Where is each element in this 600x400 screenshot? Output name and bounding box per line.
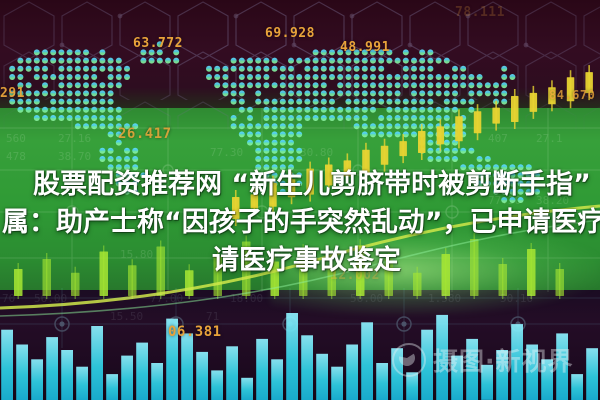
aperture-icon xyxy=(392,343,426,377)
numeric-callout: 78.111 xyxy=(455,5,505,20)
numeric-callout: 26.417 xyxy=(118,126,172,142)
banner-image: 56027.16 47838.70 40727.1 77.3038.20 77.… xyxy=(0,0,600,400)
numeric-callout: 69.928 xyxy=(265,26,315,41)
numeric-callout: 48.991 xyxy=(340,40,390,55)
numeric-callout: 63.772 xyxy=(133,36,183,51)
numeric-callout: 12.002 xyxy=(330,268,380,283)
watermark-label: 摄图·新视界 xyxy=(433,342,574,378)
watermark: 摄图·新视界 xyxy=(392,342,574,378)
numeric-callout: 291 xyxy=(0,86,25,101)
numeric-callout: 84.670 xyxy=(549,88,595,102)
numeric-callout: 06.381 xyxy=(168,324,222,340)
